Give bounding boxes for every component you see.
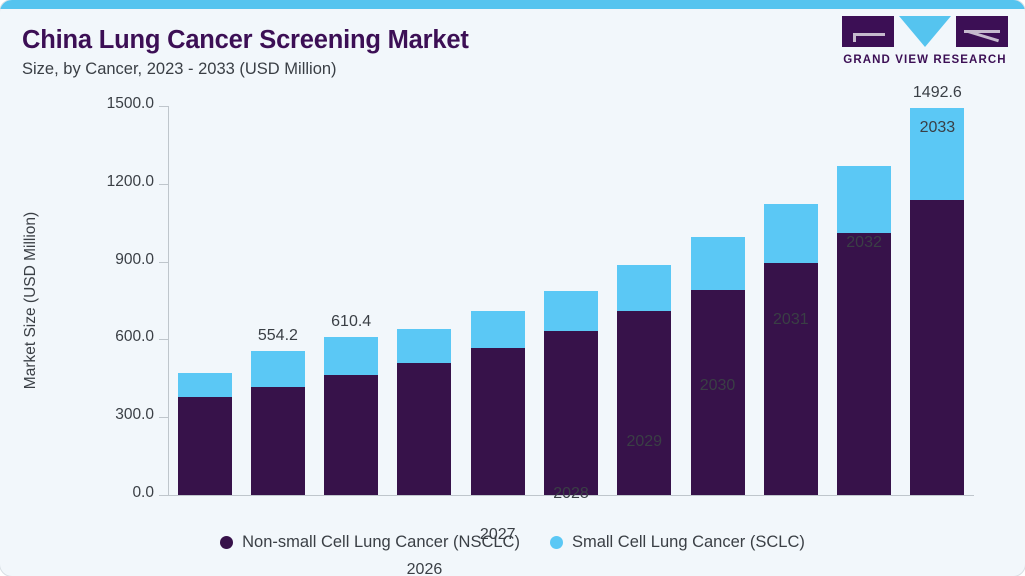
bar-group[interactable]: 2032	[837, 166, 891, 495]
y-axis-tick-label: 1200.0	[107, 173, 154, 191]
x-axis-tick-label: 2030	[700, 377, 736, 395]
y-axis-tick-mark	[159, 417, 168, 418]
legend-label: Non-small Cell Lung Cancer (NSCLC)	[242, 533, 520, 552]
bar-group[interactable]: 2027	[471, 311, 525, 495]
bar-segment-sclc[interactable]	[691, 237, 745, 290]
chart-legend: Non-small Cell Lung Cancer (NSCLC)Small …	[0, 533, 1025, 552]
bar-segment-nsclc[interactable]	[471, 348, 525, 495]
y-axis-tick-mark	[159, 339, 168, 340]
bar-group[interactable]: 610.42025	[324, 337, 378, 495]
bar-segment-sclc[interactable]	[397, 329, 451, 363]
bar-group[interactable]: 554.22024	[251, 351, 305, 495]
bar-group[interactable]: 1492.62033	[910, 108, 964, 495]
bar-segment-sclc[interactable]	[251, 351, 305, 386]
page-title: China Lung Cancer Screening Market	[22, 26, 469, 55]
y-axis-title-wrap: Market Size (USD Million)	[22, 0, 46, 106]
bar-segment-sclc[interactable]	[544, 291, 598, 331]
y-axis-tick-label: 0.0	[132, 484, 154, 502]
x-axis-tick-label: 2028	[553, 485, 589, 503]
bar-segment-nsclc[interactable]	[910, 200, 964, 495]
bar-segment-sclc[interactable]	[764, 204, 818, 263]
x-axis-tick-label: 2032	[846, 234, 882, 252]
bar-value-label: 1492.6	[913, 84, 962, 102]
page-subtitle: Size, by Cancer, 2023 - 2033 (USD Millio…	[22, 60, 337, 79]
bar-group[interactable]: 2030	[691, 237, 745, 495]
x-axis-tick-label: 2031	[773, 311, 809, 329]
bar-group[interactable]: 2026	[397, 329, 451, 495]
x-axis-tick-label: 2026	[407, 561, 443, 576]
bar-segment-nsclc[interactable]	[397, 363, 451, 495]
logo-r-mark-icon	[956, 16, 1008, 47]
y-axis-tick-mark	[159, 495, 168, 496]
bar-segment-nsclc[interactable]	[178, 397, 232, 495]
bar-segment-nsclc[interactable]	[837, 233, 891, 495]
bar-group[interactable]: 2023	[178, 373, 232, 495]
x-axis-tick-label: 2033	[920, 119, 956, 137]
logo-v-mark-icon	[899, 16, 951, 47]
bar-segment-nsclc[interactable]	[764, 263, 818, 495]
logo-text: GRAND VIEW RESEARCH	[842, 54, 1008, 66]
plot-area: 0.0300.0600.0900.01200.01500.0 2023554.2…	[168, 106, 974, 495]
bar-value-label: 610.4	[331, 313, 371, 331]
legend-color-dot-icon	[220, 536, 233, 549]
bar-segment-sclc[interactable]	[471, 311, 525, 348]
bar-group[interactable]: 2031	[764, 204, 818, 495]
y-axis-title: Market Size (USD Million)	[22, 106, 40, 495]
bar-group[interactable]: 2028	[544, 291, 598, 495]
x-axis-tick-label: 2029	[626, 433, 662, 451]
grand-view-research-logo: GRAND VIEW RESEARCH	[842, 16, 1008, 76]
y-axis-tick-label: 300.0	[115, 406, 154, 424]
y-axis-tick-label: 600.0	[115, 328, 154, 346]
top-accent-bar	[0, 0, 1025, 9]
legend-color-dot-icon	[550, 536, 563, 549]
y-axis-tick-label: 1500.0	[107, 95, 154, 113]
y-axis-tick-mark	[159, 262, 168, 263]
logo-g-mark-icon	[842, 16, 894, 47]
bar-segment-nsclc[interactable]	[544, 331, 598, 495]
legend-item[interactable]: Non-small Cell Lung Cancer (NSCLC)	[220, 533, 520, 552]
bar-segment-sclc[interactable]	[324, 337, 378, 375]
chart-card: China Lung Cancer Screening Market Size,…	[0, 0, 1025, 576]
bar-segment-nsclc[interactable]	[324, 375, 378, 495]
y-axis-tick-mark	[159, 106, 168, 107]
bar-segment-sclc[interactable]	[617, 265, 671, 311]
y-axis-tick-mark	[159, 184, 168, 185]
logo-marks	[842, 16, 1008, 48]
y-axis-tick-label: 900.0	[115, 251, 154, 269]
legend-item[interactable]: Small Cell Lung Cancer (SCLC)	[550, 533, 805, 552]
legend-label: Small Cell Lung Cancer (SCLC)	[572, 533, 805, 552]
bar-group[interactable]: 2029	[617, 265, 671, 495]
bar-segment-sclc[interactable]	[178, 373, 232, 397]
y-axis-line	[168, 106, 169, 495]
bar-segment-nsclc[interactable]	[251, 387, 305, 495]
bar-segment-sclc[interactable]	[837, 166, 891, 233]
bar-segment-nsclc[interactable]	[617, 311, 671, 495]
bar-value-label: 554.2	[258, 327, 298, 345]
